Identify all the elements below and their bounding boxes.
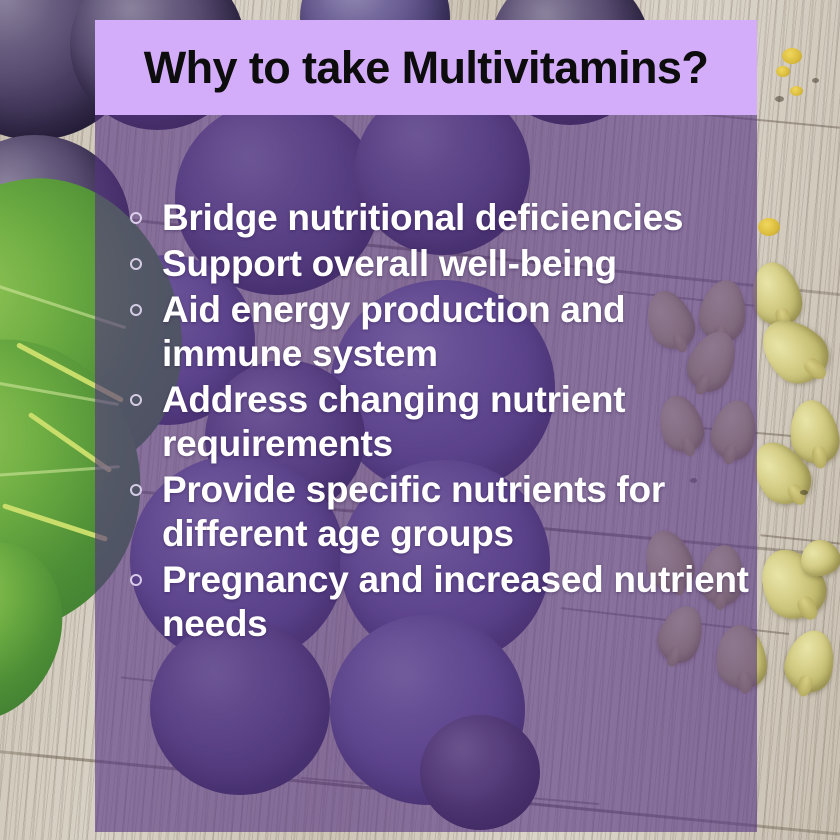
wood-fleck bbox=[812, 78, 819, 83]
wood-fleck bbox=[800, 490, 808, 495]
benefit-text: Pregnancy and increased nutrient needs bbox=[162, 558, 750, 646]
wood-fleck bbox=[775, 96, 784, 102]
list-item: Aid energy production and immune system bbox=[130, 288, 750, 376]
hollow-circle-icon bbox=[130, 394, 142, 406]
list-item: Pregnancy and increased nutrient needs bbox=[130, 558, 750, 646]
benefit-text: Aid energy production and immune system bbox=[162, 288, 750, 376]
list-item: Address changing nutrient requirements bbox=[130, 378, 750, 466]
hollow-circle-icon bbox=[130, 304, 142, 316]
benefit-text: Address changing nutrient requirements bbox=[162, 378, 750, 466]
yellow-fleck bbox=[790, 86, 803, 96]
hollow-circle-icon bbox=[130, 258, 142, 270]
list-item: Support overall well-being bbox=[130, 242, 750, 286]
yellow-fleck bbox=[776, 66, 790, 77]
list-item: Bridge nutritional deficiencies bbox=[130, 196, 750, 240]
list-item: Provide specific nutrients for different… bbox=[130, 468, 750, 556]
yellow-fleck bbox=[758, 218, 780, 236]
benefit-text: Provide specific nutrients for different… bbox=[162, 468, 750, 556]
yellow-fleck bbox=[782, 48, 802, 64]
benefit-text: Support overall well-being bbox=[162, 242, 750, 286]
page-title: Why to take Multivitamins? bbox=[144, 45, 708, 90]
hollow-circle-icon bbox=[130, 484, 142, 496]
benefits-list: Bridge nutritional deficiencies Support … bbox=[130, 196, 750, 648]
hollow-circle-icon bbox=[130, 574, 142, 586]
poster-canvas: Why to take Multivitamins? Bridge nutrit… bbox=[0, 0, 840, 840]
benefit-text: Bridge nutritional deficiencies bbox=[162, 196, 750, 240]
title-banner: Why to take Multivitamins? bbox=[95, 20, 757, 115]
hollow-circle-icon bbox=[130, 212, 142, 224]
